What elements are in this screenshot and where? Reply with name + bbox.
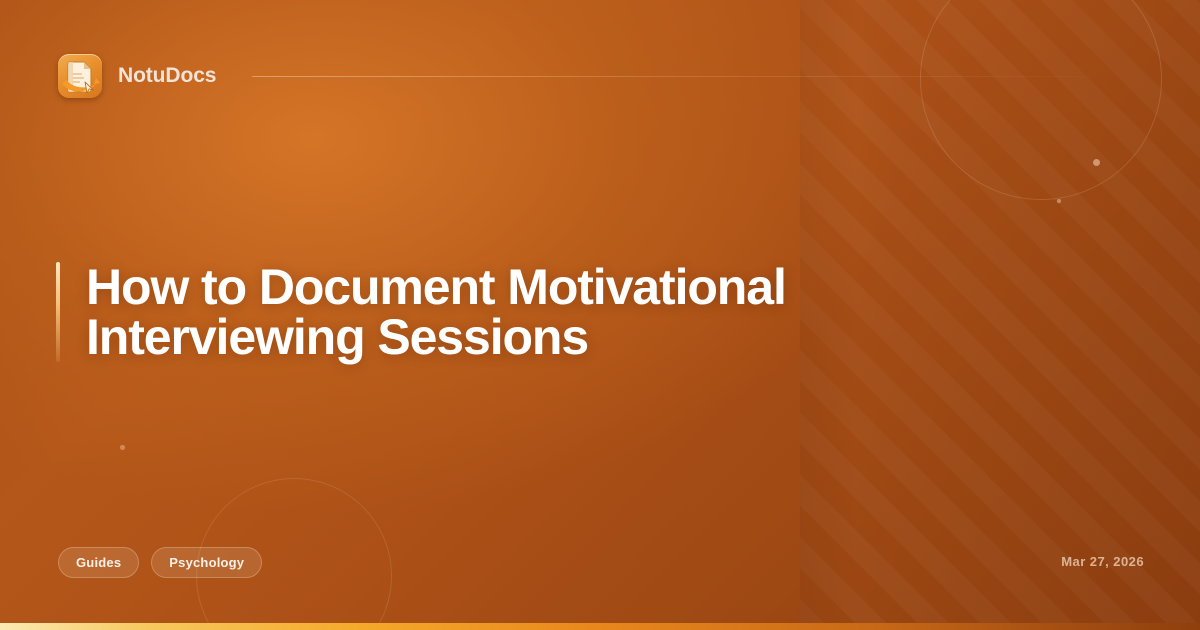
decorative-dot-large bbox=[1093, 159, 1100, 166]
page-title: How to Document Motivational Interviewin… bbox=[86, 262, 816, 362]
header-divider bbox=[252, 76, 1142, 77]
brand-header: NotuDocs bbox=[58, 54, 1142, 98]
decorative-circle-top-right bbox=[920, 0, 1162, 200]
title-accent-bar bbox=[56, 262, 60, 362]
brand-name: NotuDocs bbox=[118, 64, 216, 88]
publish-date: Mar 27, 2026 bbox=[1061, 554, 1144, 569]
title-block: How to Document Motivational Interviewin… bbox=[56, 262, 816, 362]
tag-guides[interactable]: Guides bbox=[58, 547, 139, 578]
tag-list: Guides Psychology bbox=[58, 547, 262, 578]
bottom-accent-bar bbox=[0, 623, 1200, 630]
decorative-dot-left bbox=[120, 445, 125, 450]
og-card: NotuDocs How to Document Motivational In… bbox=[0, 0, 1200, 630]
tag-psychology[interactable]: Psychology bbox=[151, 547, 262, 578]
document-pencil-swoosh-icon bbox=[58, 54, 102, 98]
decorative-dot-small bbox=[1057, 199, 1061, 203]
